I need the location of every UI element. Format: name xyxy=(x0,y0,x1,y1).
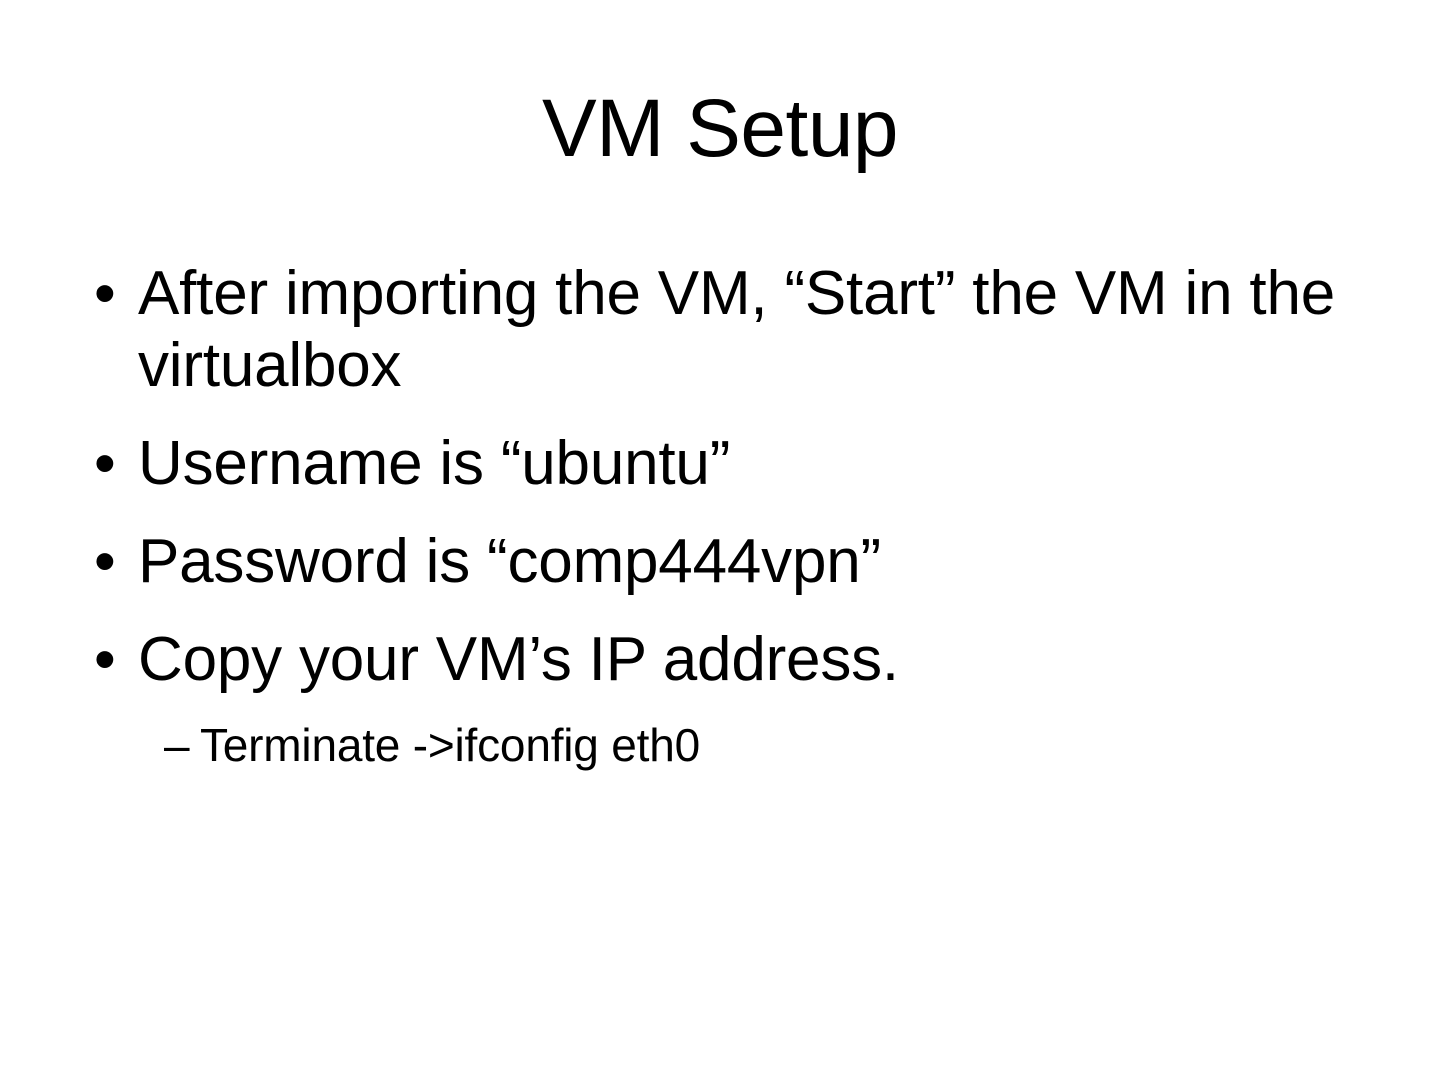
bullet-icon: • xyxy=(88,624,138,696)
list-item-label: Username is “ubuntu” xyxy=(138,428,1352,500)
page-title: VM Setup xyxy=(96,86,1344,171)
list-item-label: Password is “comp444vpn” xyxy=(138,526,1352,598)
sub-list-item-label: Terminate ->ifconfig eth0 xyxy=(200,718,1352,772)
bullet-icon: • xyxy=(88,428,138,500)
bullet-icon: • xyxy=(88,526,138,598)
list-item-label: Copy your VM’s IP address. xyxy=(138,624,1352,696)
list-item: • Username is “ubuntu” xyxy=(88,428,1352,500)
list-item: • Copy your VM’s IP address. xyxy=(88,624,1352,696)
bullet-list: • After importing the VM, “Start” the VM… xyxy=(88,258,1352,792)
list-item: • Password is “comp444vpn” xyxy=(88,526,1352,598)
bullet-icon: • xyxy=(88,258,138,330)
list-item: • After importing the VM, “Start” the VM… xyxy=(88,258,1352,402)
dash-bullet-icon: – xyxy=(164,718,200,772)
list-item-label: After importing the VM, “Start” the VM i… xyxy=(138,258,1352,402)
slide-canvas: VM Setup • After importing the VM, “Star… xyxy=(0,0,1440,1080)
sub-list-item: – Terminate ->ifconfig eth0 xyxy=(164,718,1352,772)
